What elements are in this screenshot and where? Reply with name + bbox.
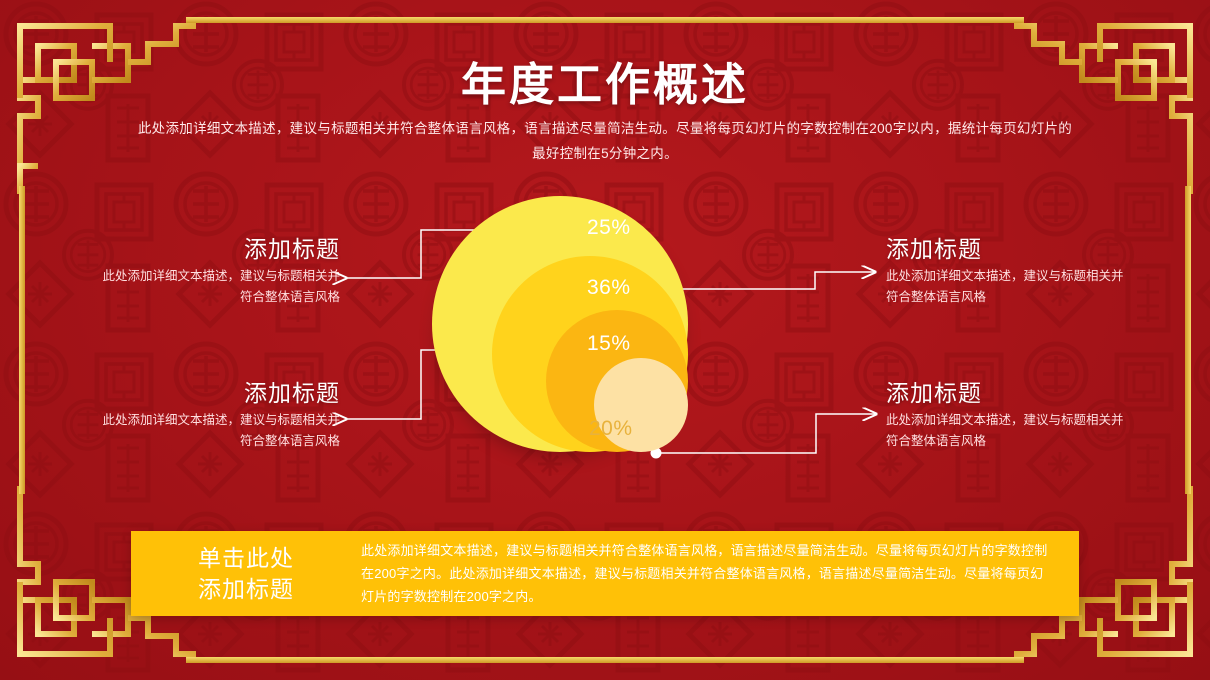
frame-edge-top [186,17,1024,23]
frame-edge-right [1185,186,1191,494]
frame-edge-left [19,186,25,494]
chart-value-3: 15% [587,332,631,356]
callout-description: 此处添加详细文本描述，建议与标题相关并符合整体语言风格 [92,266,340,308]
callout-title: 添加标题 [92,378,340,408]
slide-canvas: 年度工作概述 此处添加详细文本描述，建议与标题相关并符合整体语言风格，语言描述尽… [0,0,1210,680]
bottom-banner[interactable]: 单击此处 添加标题 此处添加详细文本描述，建议与标题相关并符合整体语言风格，语言… [131,531,1079,616]
page-subtitle: 此处添加详细文本描述，建议与标题相关并符合整体语言风格，语言描述尽量简洁生动。尽… [135,116,1075,166]
banner-title-line1: 单击此处 [131,543,361,574]
chart-value-4: 20% [589,417,633,441]
callout-title: 添加标题 [886,234,1134,264]
callout-top-left[interactable]: 添加标题 此处添加详细文本描述，建议与标题相关并符合整体语言风格 [92,234,340,308]
chart-value-2: 36% [587,276,631,300]
callout-description: 此处添加详细文本描述，建议与标题相关并符合整体语言风格 [886,266,1134,308]
banner-title-line2: 添加标题 [131,574,361,605]
callout-title: 添加标题 [92,234,340,264]
page-title: 年度工作概述 [0,48,1210,113]
callout-bottom-right[interactable]: 添加标题 此处添加详细文本描述，建议与标题相关并符合整体语言风格 [886,378,1134,452]
callout-title: 添加标题 [886,378,1134,408]
banner-title: 单击此处 添加标题 [131,543,361,605]
callout-description: 此处添加详细文本描述，建议与标题相关并符合整体语言风格 [92,410,340,452]
callout-bottom-left[interactable]: 添加标题 此处添加详细文本描述，建议与标题相关并符合整体语言风格 [92,378,340,452]
frame-edge-bottom [186,657,1024,663]
nested-circle-chart [432,196,688,486]
connector-top-right [655,272,875,289]
chart-value-1: 25% [587,216,631,240]
banner-body: 此处添加详细文本描述，建议与标题相关并符合整体语言风格，语言描述尽量简洁生动。尽… [361,539,1079,608]
connector-bottom-right [656,414,876,453]
callout-top-right[interactable]: 添加标题 此处添加详细文本描述，建议与标题相关并符合整体语言风格 [886,234,1134,308]
callout-description: 此处添加详细文本描述，建议与标题相关并符合整体语言风格 [886,410,1134,452]
